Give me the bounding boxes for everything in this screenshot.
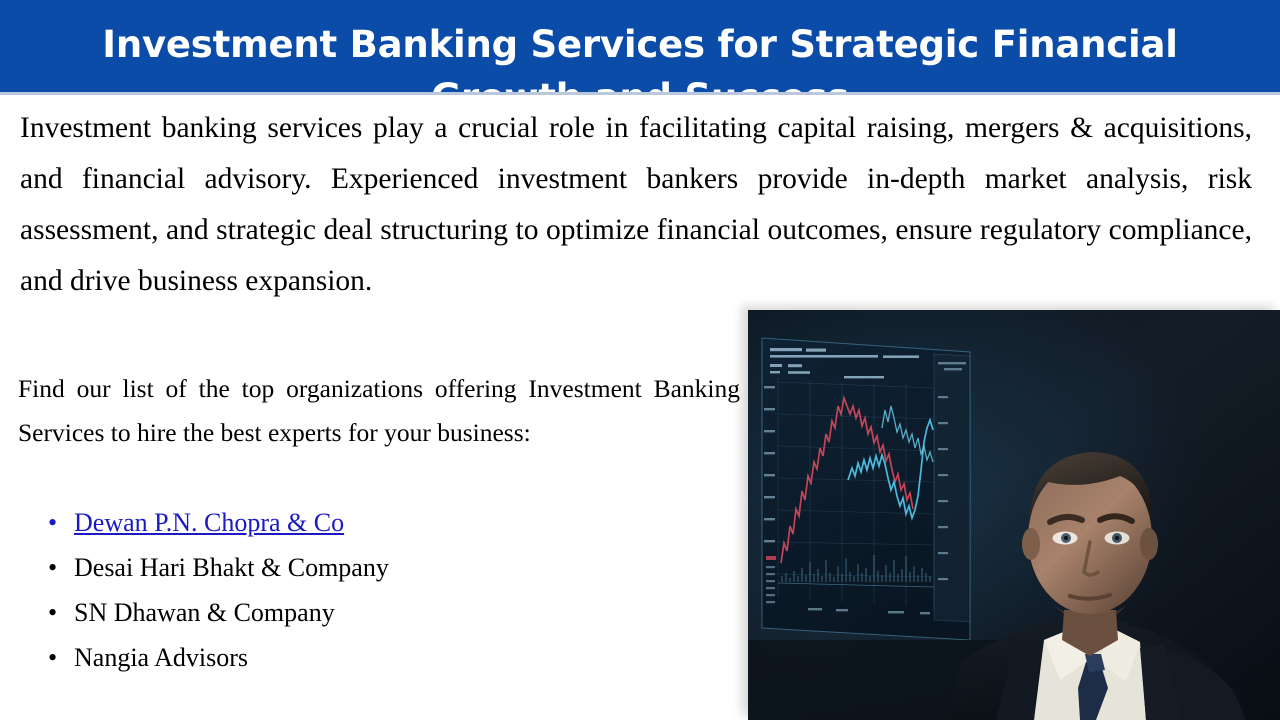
lead-paragraph: Investment banking services play a cruci… [20, 103, 1252, 307]
secondary-paragraph: Find our list of the top organizations o… [18, 367, 740, 455]
organization-label: Desai Hari Bhakt & Company [74, 553, 389, 582]
list-item: • SN Dhawan & Company [44, 590, 734, 635]
organization-list: • Dewan P.N. Chopra & Co • Desai Hari Bh… [44, 500, 734, 680]
page-title: Investment Banking Services for Strategi… [20, 18, 1260, 92]
bullet-icon: • [48, 635, 57, 680]
businessman-with-trading-chart-photo [748, 310, 1280, 720]
slide-title-bar: Investment Banking Services for Strategi… [0, 0, 1280, 92]
organization-label: SN Dhawan & Company [74, 598, 335, 627]
bullet-icon: • [48, 590, 57, 635]
secondary-text-block: Find our list of the top organizations o… [18, 367, 740, 455]
bullet-icon: • [48, 545, 57, 590]
hologram-glass-overlay [934, 354, 970, 622]
organization-link[interactable]: Dewan P.N. Chopra & Co [74, 508, 344, 537]
list-item: • Desai Hari Bhakt & Company [44, 545, 734, 590]
title-bar-divider [0, 92, 1280, 95]
bullet-icon: • [48, 500, 57, 545]
list-item: • Nangia Advisors [44, 635, 734, 680]
organization-label: Nangia Advisors [74, 643, 248, 672]
list-item[interactable]: • Dewan P.N. Chopra & Co [44, 500, 734, 545]
photo-illustration [748, 310, 1280, 720]
